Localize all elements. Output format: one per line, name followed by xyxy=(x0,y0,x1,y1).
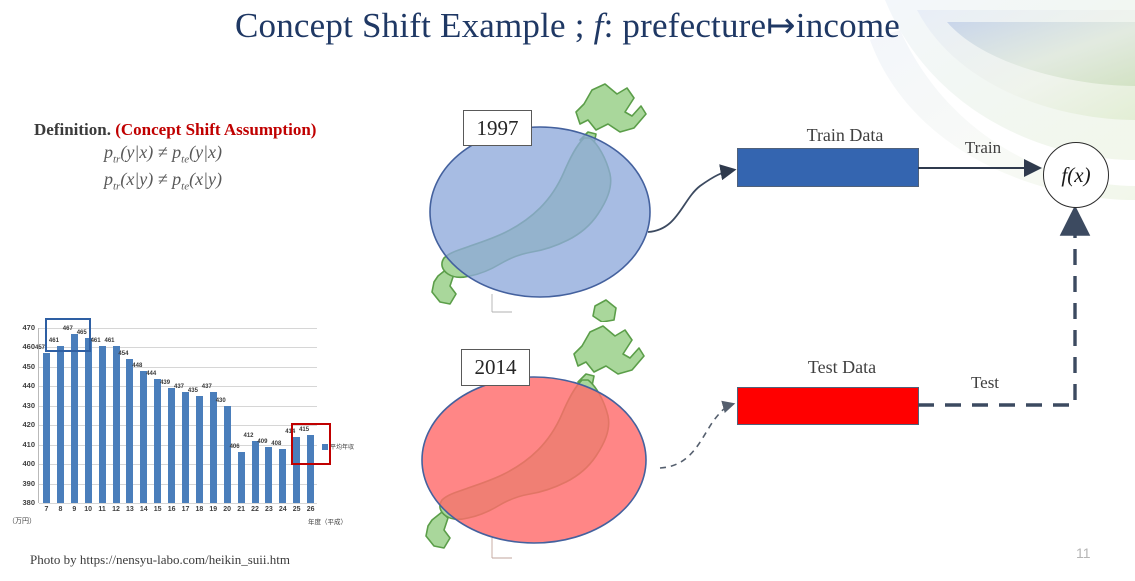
chart-highlight-blue-box xyxy=(45,318,91,352)
chart-bar-group: 4577 xyxy=(40,328,53,503)
chart-bar-value-label: 461 xyxy=(105,338,115,344)
chart-plot-area: 3803904004104204304404504604704577461846… xyxy=(39,328,317,503)
chart-bar-group: 44415 xyxy=(151,328,164,503)
chart-bar xyxy=(57,346,64,504)
chart-x-tick-label: 21 xyxy=(235,506,248,513)
chart-bar xyxy=(99,346,106,504)
chart-x-tick-label: 24 xyxy=(276,506,289,513)
chart-x-tick-label: 13 xyxy=(123,506,136,513)
chart-x-tick-label: 7 xyxy=(40,506,53,513)
chart-bar-group: 43518 xyxy=(193,328,206,503)
chart-x-tick-label: 26 xyxy=(304,506,317,513)
chart-bar xyxy=(168,388,175,503)
chart-bar xyxy=(196,396,203,503)
train-data-box xyxy=(737,148,919,187)
chart-bar-value-label: 412 xyxy=(244,433,254,439)
chart-bar-group: 46510 xyxy=(82,328,95,503)
f1-args1: (y|x) xyxy=(120,142,153,162)
test-data-label: Test Data xyxy=(752,357,932,378)
chart-bar xyxy=(71,334,78,503)
chart-y-axis xyxy=(38,328,39,503)
title-part-2: : prefecture↦income xyxy=(604,6,900,45)
f2-args1: (x|y) xyxy=(120,169,153,189)
chart-x-tick-label: 25 xyxy=(290,506,303,513)
title-italic-f: f xyxy=(594,6,604,45)
chart-bar-value-label: 437 xyxy=(202,384,212,390)
f2-p2: p xyxy=(172,169,181,189)
map-2014 xyxy=(412,320,682,570)
chart-y-tick-label: 420 xyxy=(7,420,35,429)
chart-x-tick-label: 16 xyxy=(165,506,178,513)
chart-bar xyxy=(140,371,147,503)
f1-p2: p xyxy=(172,142,181,162)
chart-bar xyxy=(224,406,231,503)
chart-x-tick-label: 9 xyxy=(68,506,81,513)
chart-bar xyxy=(85,338,92,503)
definition-heading: Definition. (Concept Shift Assumption) xyxy=(34,120,434,140)
chart-y-tick-label: 470 xyxy=(7,323,35,332)
f2-rel: ≠ xyxy=(153,169,172,189)
chart-bar-value-label: 430 xyxy=(216,398,226,404)
chart-bar-group: 40923 xyxy=(262,328,275,503)
test-data-box xyxy=(737,387,919,425)
year-box-2014: 2014 xyxy=(461,349,530,386)
chart-bar-group: 41526 xyxy=(304,328,317,503)
chart-bar xyxy=(252,441,259,503)
chart-bar-group: 4679 xyxy=(68,328,81,503)
chart-bar-value-label: 406 xyxy=(230,444,240,450)
chart-y-tick-label: 460 xyxy=(7,342,35,351)
chart-bar-group: 45413 xyxy=(123,328,136,503)
model-fx-node: f(x) xyxy=(1043,142,1109,208)
chart-bar xyxy=(238,452,245,503)
chart-bar-group: 44814 xyxy=(137,328,150,503)
legend-label: 平均年収 xyxy=(330,442,354,451)
chart-bar xyxy=(182,392,189,503)
chart-bar-value-label: 457 xyxy=(35,345,45,351)
photo-credit: Photo by https://nensyu-labo.com/heikin_… xyxy=(30,552,290,568)
chart-x-tick-label: 15 xyxy=(151,506,164,513)
chart-xlabel: 年度（平成） xyxy=(308,516,347,526)
train-data-label: Train Data xyxy=(755,125,935,146)
chart-bar xyxy=(279,449,286,503)
chart-bar xyxy=(154,379,161,503)
chart-bar-group: 46111 xyxy=(96,328,109,503)
title-part-1: Concept Shift Example ; xyxy=(235,6,594,45)
chart-x-tick-label: 10 xyxy=(82,506,95,513)
train-arrow-label: Train xyxy=(928,138,1038,158)
chart-x-tick-label: 19 xyxy=(207,506,220,513)
chart-bar-group: 43020 xyxy=(221,328,234,503)
chart-x-tick-label: 8 xyxy=(54,506,67,513)
chart-y-tick-label: 430 xyxy=(7,401,35,410)
chart-bar xyxy=(210,392,217,503)
chart-bar-value-label: 448 xyxy=(132,363,142,369)
chart-y-tick-label: 410 xyxy=(7,440,35,449)
chart-highlight-red-box xyxy=(291,423,331,465)
chart-y-tick-label: 450 xyxy=(7,362,35,371)
chart-x-tick-label: 18 xyxy=(193,506,206,513)
year-box-1997: 1997 xyxy=(463,110,532,146)
chart-ylabel: （万円） xyxy=(8,516,36,526)
chart-bar-value-label: 461 xyxy=(91,338,101,344)
definition-assumption-name: (Concept Shift Assumption) xyxy=(115,120,316,139)
definition-label: Definition xyxy=(34,120,107,139)
chart-x-tick-label: 20 xyxy=(221,506,234,513)
chart-y-tick-label: 440 xyxy=(7,381,35,390)
page-title: Concept Shift Example ; f: prefecture↦in… xyxy=(0,6,1135,46)
chart-bar-value-label: 444 xyxy=(146,371,156,377)
chart-bar-value-label: 437 xyxy=(174,384,184,390)
chart-y-tick-label: 380 xyxy=(7,498,35,507)
chart-bar-group: 43719 xyxy=(207,328,220,503)
chart-y-tick-label: 390 xyxy=(7,479,35,488)
chart-x-tick-label: 11 xyxy=(96,506,109,513)
chart-x-tick-label: 22 xyxy=(249,506,262,513)
slide-canvas: Concept Shift Example ; f: prefecture↦in… xyxy=(0,0,1135,581)
formula-line-1: ptr(y|x) ≠ pte(y|x) xyxy=(104,140,434,167)
chart-bar-group: 40621 xyxy=(235,328,248,503)
definition-dot: . xyxy=(107,120,116,139)
chart-bar-group: 41222 xyxy=(249,328,262,503)
chart-x-tick-label: 14 xyxy=(137,506,150,513)
chart-bar-value-label: 454 xyxy=(118,351,128,357)
page-number: 11 xyxy=(1076,545,1091,561)
chart-bar-value-label: 408 xyxy=(271,441,281,447)
formula-line-2: ptr(x|y) ≠ pte(x|y) xyxy=(104,167,434,194)
chart-bar-value-label: 439 xyxy=(160,380,170,386)
chart-bar xyxy=(43,353,50,503)
f2-p1: p xyxy=(104,169,113,189)
f1-rel: ≠ xyxy=(153,142,172,162)
chart-bar-value-label: 409 xyxy=(257,439,267,445)
chart-bar xyxy=(126,359,133,503)
f1-p1: p xyxy=(104,142,113,162)
chart-bar xyxy=(265,447,272,503)
f1-args2: (y|x) xyxy=(189,142,222,162)
chart-x-tick-label: 23 xyxy=(262,506,275,513)
chart-bar-value-label: 435 xyxy=(188,388,198,394)
chart-gridline xyxy=(39,503,317,504)
f2-args2: (x|y) xyxy=(189,169,222,189)
chart-bar xyxy=(113,346,120,504)
chart-y-tick-label: 400 xyxy=(7,459,35,468)
chart-bar-group: 40824 xyxy=(276,328,289,503)
map-1997 xyxy=(420,82,690,322)
chart-bar-group: 4618 xyxy=(54,328,67,503)
test-arrow-label: Test xyxy=(930,373,1040,393)
definition-block: Definition. (Concept Shift Assumption) p… xyxy=(34,120,434,195)
chart-bar-group: 43916 xyxy=(165,328,178,503)
chart-x-tick-label: 17 xyxy=(179,506,192,513)
chart-bar-group: 43717 xyxy=(179,328,192,503)
f1-sub2: te xyxy=(181,154,189,166)
f2-sub2: te xyxy=(181,181,189,193)
chart-x-tick-label: 12 xyxy=(110,506,123,513)
chart-bar-group: 41425 xyxy=(290,328,303,503)
